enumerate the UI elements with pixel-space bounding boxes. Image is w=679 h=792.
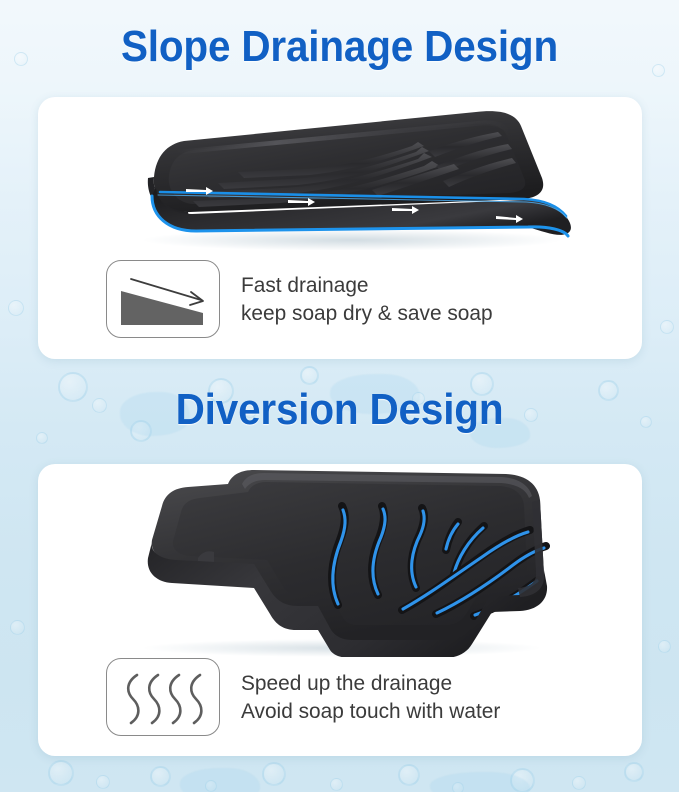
caption-text-fast-drainage: Fast drainage keep soap dry & save soap [241, 271, 493, 327]
angled-soap-dish-photo [72, 100, 608, 250]
caption-text-speed-up-drainage: Speed up the drainage Avoid soap touch w… [241, 669, 500, 725]
wavy-lines-icon [106, 658, 220, 736]
caption-line-1: Speed up the drainage [241, 669, 500, 697]
caption-speed-up-drainage: Speed up the drainage Avoid soap touch w… [106, 658, 508, 736]
slope-arrow-icon [106, 260, 220, 338]
infographic-page: Slope Drainage Design [0, 0, 679, 792]
caption-line-2: Avoid soap touch with water [241, 697, 500, 725]
caption-fast-drainage: Fast drainage keep soap dry & save soap [106, 260, 500, 338]
section-title-diversion-design: Diversion Design [27, 385, 652, 435]
section-title-slope-drainage: Slope Drainage Design [27, 22, 652, 72]
caption-line-1: Fast drainage [241, 271, 493, 299]
topdown-soap-dish-photo [102, 462, 572, 657]
caption-line-2: keep soap dry & save soap [241, 299, 493, 327]
